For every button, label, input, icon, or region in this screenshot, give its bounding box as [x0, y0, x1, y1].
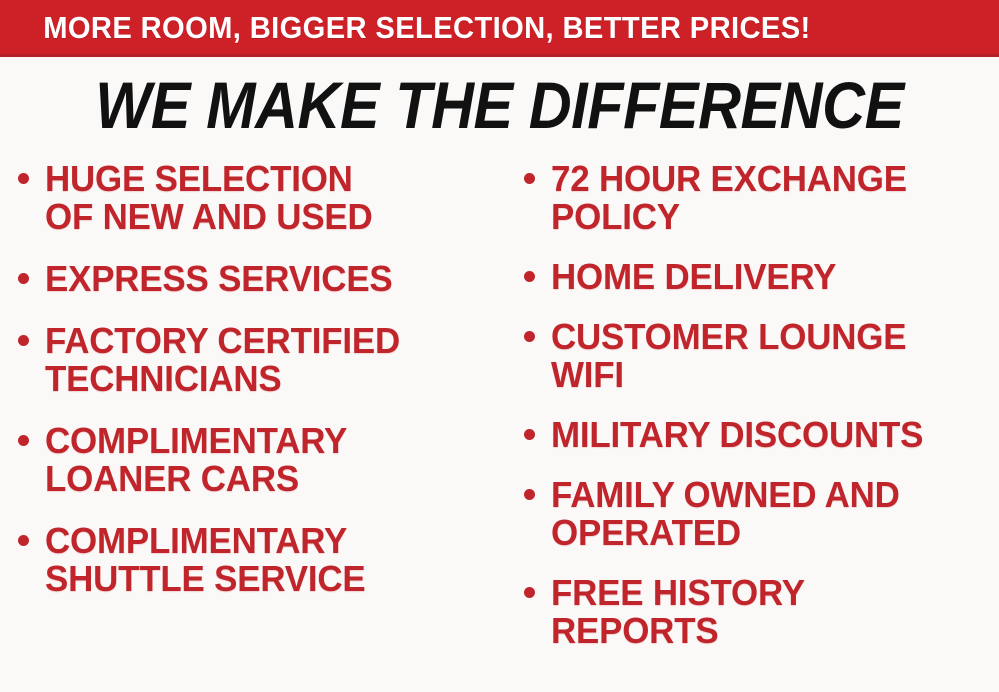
bullet-dot-icon — [18, 273, 29, 284]
list-item-label: HOME DELIVERY — [551, 258, 836, 296]
advertisement-banner: MORE ROOM, BIGGER SELECTION, BETTER PRIC… — [0, 0, 999, 692]
list-item-label: FREE HISTORY REPORTS — [551, 574, 805, 650]
list-item-label: COMPLIMENTARY LOANER CARS — [45, 422, 347, 498]
bullet-dot-icon — [18, 173, 29, 184]
bullet-dot-icon — [524, 173, 535, 184]
list-item: COMPLIMENTARY SHUTTLE SERVICE — [18, 522, 510, 598]
list-item-label: CUSTOMER LOUNGE WIFI — [551, 318, 906, 394]
list-item-label: EXPRESS SERVICES — [45, 260, 393, 298]
promo-banner-text: MORE ROOM, BIGGER SELECTION, BETTER PRIC… — [0, 12, 811, 43]
bullet-dot-icon — [524, 489, 535, 500]
features-column-right: 72 HOUR EXCHANGE POLICY HOME DELIVERY CU… — [510, 160, 999, 680]
list-item: HOME DELIVERY — [524, 258, 999, 296]
list-item: FACTORY CERTIFIED TECHNICIANS — [18, 322, 510, 398]
list-item: FAMILY OWNED AND OPERATED — [524, 476, 999, 552]
bullet-dot-icon — [524, 587, 535, 598]
bullet-dot-icon — [524, 429, 535, 440]
list-item: CUSTOMER LOUNGE WIFI — [524, 318, 999, 394]
bullet-dot-icon — [524, 271, 535, 282]
page-title: WE MAKE THE DIFFERENCE — [50, 72, 949, 138]
list-item: MILITARY DISCOUNTS — [524, 416, 999, 454]
list-item-label: FACTORY CERTIFIED TECHNICIANS — [45, 322, 400, 398]
top-promo-banner: MORE ROOM, BIGGER SELECTION, BETTER PRIC… — [0, 0, 999, 57]
list-item: 72 HOUR EXCHANGE POLICY — [524, 160, 999, 236]
list-item-label: HUGE SELECTION OF NEW AND USED — [45, 160, 373, 236]
bullet-dot-icon — [524, 331, 535, 342]
list-item-label: FAMILY OWNED AND OPERATED — [551, 476, 900, 552]
bullet-dot-icon — [18, 535, 29, 546]
list-item-label: COMPLIMENTARY SHUTTLE SERVICE — [45, 522, 365, 598]
bullet-dot-icon — [18, 335, 29, 346]
list-item: COMPLIMENTARY LOANER CARS — [18, 422, 510, 498]
bullet-dot-icon — [18, 435, 29, 446]
list-item-label: MILITARY DISCOUNTS — [551, 416, 923, 454]
features-column-left: HUGE SELECTION OF NEW AND USED EXPRESS S… — [0, 160, 510, 680]
list-item-label: 72 HOUR EXCHANGE POLICY — [551, 160, 907, 236]
features-columns: HUGE SELECTION OF NEW AND USED EXPRESS S… — [0, 160, 999, 680]
list-item: HUGE SELECTION OF NEW AND USED — [18, 160, 510, 236]
list-item: EXPRESS SERVICES — [18, 260, 510, 298]
list-item: FREE HISTORY REPORTS — [524, 574, 999, 650]
